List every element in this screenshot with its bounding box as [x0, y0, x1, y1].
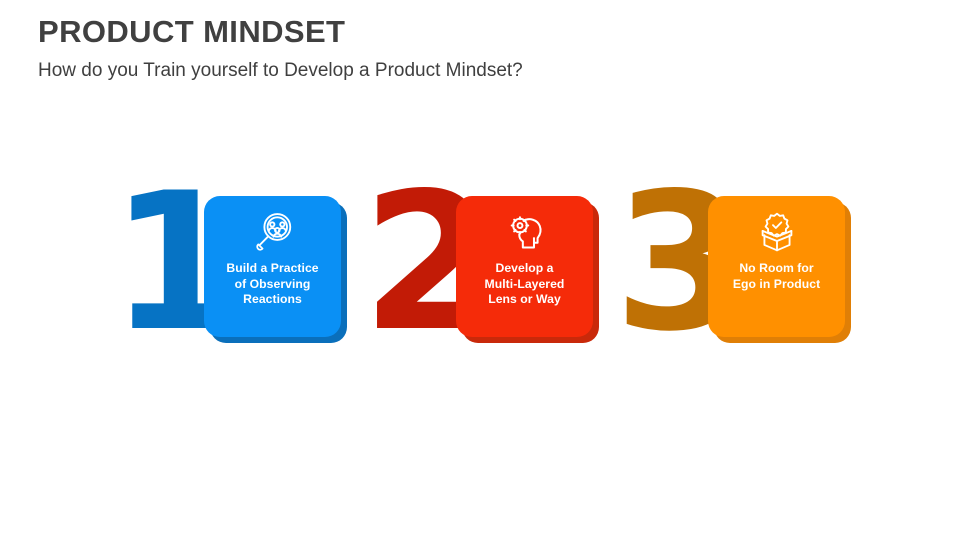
- step-card-3-line-2: Ego in Product: [712, 277, 842, 293]
- step-card-2-text: Develop a Multi-Layered Lens or Way: [460, 261, 590, 308]
- step-card-1[interactable]: Build a Practice of Observing Reactions: [204, 196, 341, 337]
- page-subtitle: How do you Train yourself to Develop a P…: [38, 60, 918, 83]
- page-title: PRODUCT MINDSET: [38, 14, 918, 50]
- step-card-1-line-1: Build a Practice: [208, 261, 338, 277]
- step-card-2[interactable]: Develop a Multi-Layered Lens or Way: [456, 196, 593, 337]
- steps-row: 1 Build a Practice of Observing Reaction…: [0, 188, 960, 358]
- open-box-check-icon: [754, 209, 800, 255]
- head-gear-icon: [502, 209, 548, 255]
- magnifier-people-icon: [250, 209, 296, 255]
- step-item-2[interactable]: 2 Develop a Multi-Layered Lens or Way: [360, 188, 620, 358]
- step-card-1-line-3: Reactions: [208, 292, 338, 308]
- slide-header: PRODUCT MINDSET How do you Train yoursel…: [38, 14, 918, 83]
- step-card-2-line-1: Develop a: [460, 261, 590, 277]
- step-card-3-line-1: No Room for: [712, 261, 842, 277]
- step-item-1[interactable]: 1 Build a Practice of Observing Reaction…: [108, 188, 368, 358]
- step-card-2-line-2: Multi-Layered: [460, 277, 590, 293]
- step-card-3[interactable]: No Room for Ego in Product: [708, 196, 845, 337]
- step-card-1-text: Build a Practice of Observing Reactions: [208, 261, 338, 308]
- step-card-2-line-3: Lens or Way: [460, 292, 590, 308]
- step-card-1-line-2: of Observing: [208, 277, 338, 293]
- step-card-3-text: No Room for Ego in Product: [712, 261, 842, 292]
- step-item-3[interactable]: 3 No Room for Ego in Product: [612, 188, 872, 358]
